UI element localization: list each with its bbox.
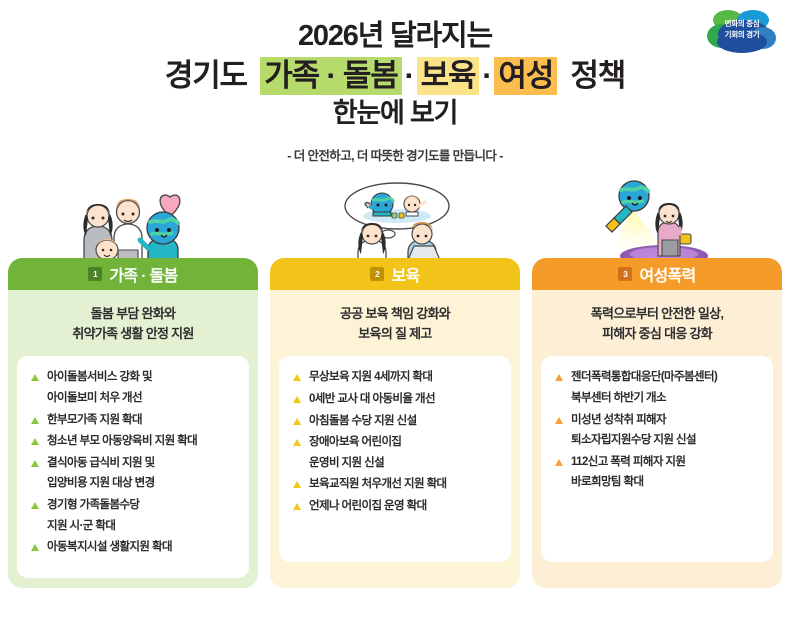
brand-logo-line-1: 변화의 중심: [725, 19, 760, 28]
parents-at-desk-with-laptop-thinking-of-baby-illustration: [322, 182, 472, 268]
card-subtitle: 폭력으로부터 안전한 일상, 피해자 중심 대응 강화: [532, 290, 782, 356]
list-item[interactable]: 한부모가족 지원 확대: [30, 413, 239, 429]
triangle-bullet-icon: [31, 502, 39, 509]
list-item-line-1: 젠더폭력통합대응단(마주봄센터): [571, 371, 717, 383]
card-header-childcare: 2 보육: [270, 258, 520, 290]
card-subtitle-line-2: 보육의 질 제고: [280, 324, 510, 344]
triangle-bullet-icon: [293, 418, 301, 425]
gyeonggi-brand-logo: 변화의 중심 기회의 경기: [706, 8, 778, 54]
policy-list: 무상보육 지원 4세까지 확대 0세반 교사 대 아동비율 개선 아침돌봄 수당…: [292, 370, 501, 514]
list-item-line-1: 경기형 가족돌봄수당: [47, 499, 139, 511]
card-subtitle: 공공 보육 책임 강화와 보육의 질 제고: [270, 290, 520, 356]
page-header: 2026년 달라지는 경기도 가족 · 돌봄·보육·여성 정책 한눈에 보기 -…: [0, 0, 790, 164]
triangle-bullet-icon: [293, 374, 301, 381]
title-separator-1: ·: [402, 60, 417, 91]
list-item[interactable]: 112신고 폭력 피해자 지원바로희망팀 확대: [554, 455, 763, 491]
list-item-line-2: 지원 시·군 확대: [47, 519, 239, 535]
triangle-bullet-icon: [555, 459, 563, 466]
card-body: 아이돌봄서비스 강화 및아이돌보미 처우 개선 한부모가족 지원 확대 청소년 …: [17, 356, 249, 578]
list-item-line-1: 보육교직원 처우개선 지원 확대: [309, 478, 447, 490]
policy-card-violence-against-women[interactable]: 3 여성폭력 폭력으로부터 안전한 일상, 피해자 중심 대응 강화 젠더폭력통…: [532, 258, 782, 588]
brand-logo-text: 변화의 중심 기회의 경기: [706, 19, 778, 41]
list-item-line-1: 결식아동 급식비 지원 및: [47, 457, 155, 469]
card-title: 보육: [391, 262, 419, 286]
policy-card-childcare[interactable]: 2 보육 공공 보육 책임 강화와 보육의 질 제고 무상보육 지원 4세까지 …: [270, 258, 520, 588]
page-title-line-2: 경기도 가족 · 돌봄·보육·여성 정책: [0, 60, 790, 91]
list-item-line-1: 아이돌봄서비스 강화 및: [47, 371, 152, 383]
list-item-line-2: 운영비 지원 신설: [309, 456, 501, 472]
list-item[interactable]: 경기형 가족돌봄수당지원 시·군 확대: [30, 498, 239, 534]
list-item-line-1: 무상보육 지원 4세까지 확대: [309, 371, 432, 383]
page-subtitle: - 더 안전하고, 더 따뜻한 경기도를 만듭니다 -: [0, 145, 790, 164]
list-item[interactable]: 미성년 성착취 피해자퇴소자립지원수당 지원 신설: [554, 413, 763, 449]
list-item-line-1: 언제나 어린이집 운영 확대: [309, 500, 427, 512]
triangle-bullet-icon: [31, 438, 39, 445]
policy-card-family-care[interactable]: 1 가족 · 돌봄 돌봄 부담 완화와 취약가족 생활 안정 지원 아이돌봄서비…: [8, 258, 258, 588]
list-item-line-1: 한부모가족 지원 확대: [47, 414, 142, 426]
card-number-badge: 1: [88, 267, 102, 281]
card-subtitle: 돌봄 부담 완화와 취약가족 생활 안정 지원: [8, 290, 258, 356]
title-suffix: 정책: [570, 58, 625, 93]
triangle-bullet-icon: [293, 396, 301, 403]
list-item-line-1: 아동복지시설 생활지원 확대: [47, 541, 172, 553]
triangle-bullet-icon: [293, 439, 301, 446]
card-body: 무상보육 지원 4세까지 확대 0세반 교사 대 아동비율 개선 아침돌봄 수당…: [279, 356, 511, 562]
list-item[interactable]: 아침돌봄 수당 지원 신설: [292, 414, 501, 430]
card-number-badge: 3: [618, 267, 632, 281]
list-item[interactable]: 청소년 부모 아동양육비 지원 확대: [30, 434, 239, 450]
list-item-line-1: 장애아보육 어린이집: [309, 436, 401, 448]
list-item-line-1: 0세반 교사 대 아동비율 개선: [309, 393, 435, 405]
policy-cards-container: 1 가족 · 돌봄 돌봄 부담 완화와 취약가족 생활 안정 지원 아이돌봄서비…: [0, 258, 790, 588]
list-item-line-2: 입양비용 지원 대상 변경: [47, 476, 239, 492]
list-item-line-2: 바로희망팀 확대: [571, 475, 763, 491]
card-title: 여성폭력: [639, 262, 695, 286]
triangle-bullet-icon: [293, 503, 301, 510]
policy-list: 젠더폭력통합대응단(마주봄센터)북부센터 하반기 개소 미성년 성착취 피해자퇴…: [554, 370, 763, 491]
triangle-bullet-icon: [31, 374, 39, 381]
card-title: 가족 · 돌봄: [109, 262, 177, 286]
title-prefix: 경기도: [165, 58, 247, 93]
card-subtitle-line-2: 피해자 중심 대응 강화: [542, 324, 772, 344]
triangle-bullet-icon: [555, 374, 563, 381]
title-highlight-women: 여성: [494, 57, 557, 95]
card-header-violence-against-women: 3 여성폭력: [532, 258, 782, 290]
brand-logo-line-2: 기회의 경기: [725, 30, 760, 39]
list-item-line-1: 미성년 성착취 피해자: [571, 414, 666, 426]
list-item-line-2: 아이돌보미 처우 개선: [47, 391, 239, 407]
triangle-bullet-icon: [293, 481, 301, 488]
triangle-bullet-icon: [31, 417, 39, 424]
page-title-line-3: 한눈에 보기: [0, 100, 790, 127]
page-title-line-1: 2026년 달라지는: [0, 22, 790, 51]
card-subtitle-line-1: 폭력으로부터 안전한 일상,: [542, 304, 772, 324]
list-item[interactable]: 무상보육 지원 4세까지 확대: [292, 370, 501, 386]
list-item[interactable]: 보육교직원 처우개선 지원 확대: [292, 477, 501, 493]
list-item[interactable]: 젠더폭력통합대응단(마주봄센터)북부센터 하반기 개소: [554, 370, 763, 406]
family-with-heart-balloon-and-mascot-illustration: [62, 188, 207, 266]
list-item-line-1: 청소년 부모 아동양육비 지원 확대: [47, 435, 197, 447]
list-item[interactable]: 결식아동 급식비 지원 및입양비용 지원 대상 변경: [30, 456, 239, 492]
list-item-line-1: 아침돌봄 수당 지원 신설: [309, 415, 417, 427]
list-item-line-2: 퇴소자립지원수당 지원 신설: [571, 433, 763, 449]
title-highlight-childcare: 보육: [417, 57, 480, 95]
list-item-line-1: 112신고 폭력 피해자 지원: [571, 456, 685, 468]
list-item[interactable]: 언제나 어린이집 운영 확대: [292, 499, 501, 515]
card-body: 젠더폭력통합대응단(마주봄센터)북부센터 하반기 개소 미성년 성착취 피해자퇴…: [541, 356, 773, 562]
triangle-bullet-icon: [31, 460, 39, 467]
title-separator-2: ·: [479, 60, 494, 91]
title-highlight-family-care: 가족 · 돌봄: [260, 57, 401, 95]
list-item[interactable]: 아동복지시설 생활지원 확대: [30, 540, 239, 556]
list-item[interactable]: 아이돌봄서비스 강화 및아이돌보미 처우 개선: [30, 370, 239, 406]
card-subtitle-line-1: 공공 보육 책임 강화와: [280, 304, 510, 324]
triangle-bullet-icon: [31, 544, 39, 551]
card-header-family-care: 1 가족 · 돌봄: [8, 258, 258, 290]
policy-list: 아이돌봄서비스 강화 및아이돌보미 처우 개선 한부모가족 지원 확대 청소년 …: [30, 370, 239, 556]
list-item[interactable]: 0세반 교사 대 아동비율 개선: [292, 392, 501, 408]
list-item[interactable]: 장애아보육 어린이집운영비 지원 신설: [292, 435, 501, 471]
triangle-bullet-icon: [555, 417, 563, 424]
card-number-badge: 2: [370, 267, 384, 281]
mascot-with-flashlight-guiding-walking-woman-illustration: [596, 178, 746, 268]
card-subtitle-line-1: 돌봄 부담 완화와: [18, 304, 248, 324]
card-subtitle-line-2: 취약가족 생활 안정 지원: [18, 324, 248, 344]
list-item-line-2: 북부센터 하반기 개소: [571, 391, 763, 407]
